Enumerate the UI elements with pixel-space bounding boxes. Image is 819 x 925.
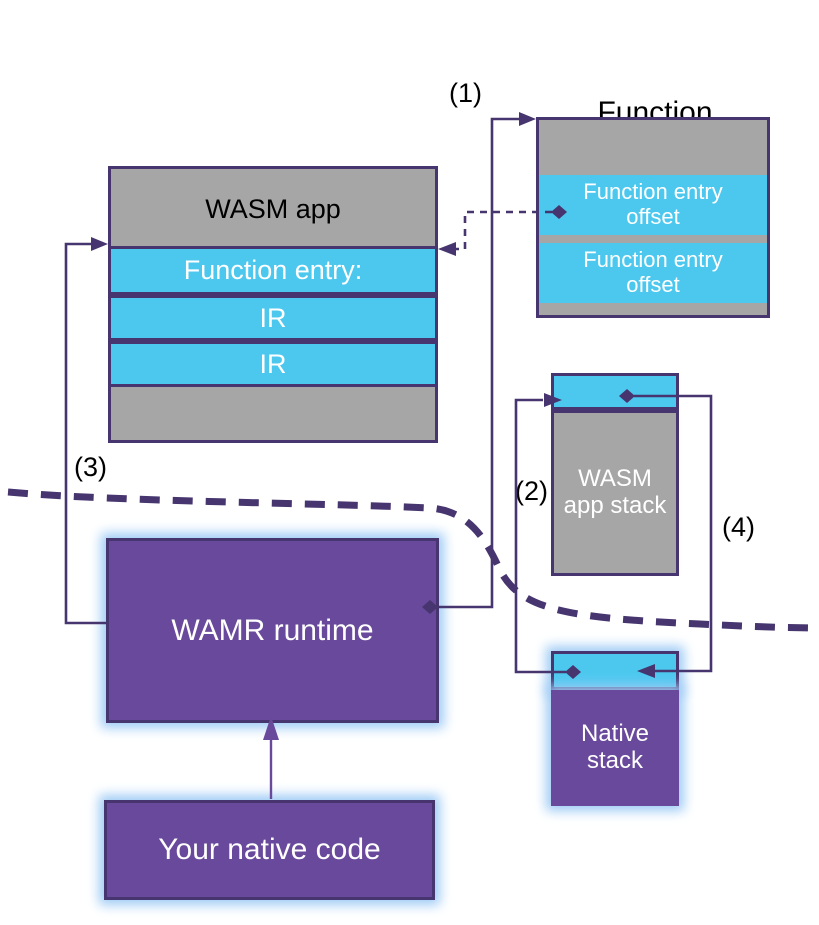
diagram-canvas: Function Index Table (1) (2) (3) (4) Fun… — [0, 0, 819, 925]
arrow-head-step-1 — [519, 112, 536, 126]
arrow-head-offset-to-wasm-app — [438, 242, 456, 256]
connector-step-3 — [66, 237, 108, 623]
arrow-head-step-2 — [544, 393, 562, 407]
diamond-runtime-right — [422, 600, 438, 614]
managed-native-boundary-line — [8, 492, 819, 628]
arrow-head-native-code-to-runtime — [263, 716, 279, 740]
connector-step-4 — [619, 389, 711, 678]
arrow-head-step-4 — [637, 664, 655, 678]
arrow-head-step-3 — [91, 237, 108, 251]
diamond-wasm-app-stack-top — [619, 389, 635, 403]
connector-step-1 — [422, 112, 536, 614]
connector-native-code-to-runtime — [263, 716, 279, 799]
connector-step-2 — [516, 393, 581, 679]
diamond-native-stack-left — [565, 665, 581, 679]
connector-offset-dashed — [438, 205, 567, 256]
connector-overlay — [0, 0, 819, 925]
diamond-function-entry-offset — [551, 205, 567, 219]
